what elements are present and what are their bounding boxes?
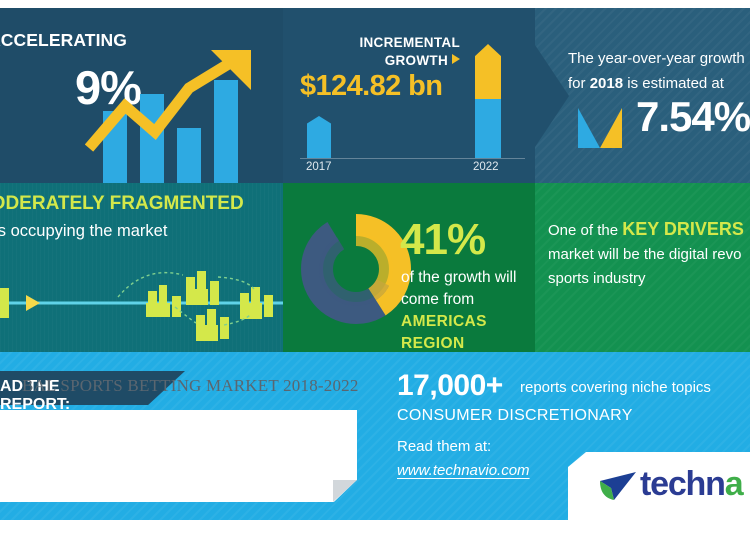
panel-divider-chevron-icon — [535, 45, 569, 147]
key-drivers-text: One of the KEY DRIVERS market will be th… — [548, 217, 750, 291]
americas-caption-line1: of the growth will — [401, 269, 516, 286]
link-curve-3 — [218, 277, 254, 289]
row-market-overview: et will be ACCELERATING R of nearly 9% I… — [0, 8, 750, 183]
americas-caption: of the growth will come from AMERICAS RE… — [401, 267, 546, 355]
arrow-head-icon — [26, 295, 40, 311]
fragmentation-headline: et is MODERATELY FRAGMENTED y players oc… — [0, 190, 290, 245]
incremental-growth-value: $124.82 bn — [300, 70, 475, 103]
up-triangle-icon — [578, 108, 622, 148]
wordmark-green: a — [725, 465, 743, 503]
incremental-bar-2017 — [307, 116, 331, 158]
cagr-headline-bold: ACCELERATING — [0, 30, 127, 50]
incremental-axis-line — [300, 158, 525, 159]
panel-cagr: et will be ACCELERATING R of nearly 9% — [0, 8, 283, 183]
city-cluster-2-icon — [186, 271, 219, 305]
report-count: 17,000+ — [397, 369, 503, 403]
city-cluster-4-icon — [240, 287, 273, 319]
report-count-label: reports covering niche topics — [520, 379, 711, 396]
cagr-bar-3 — [177, 128, 201, 183]
infographic-root: et will be ACCELERATING R of nearly 9% I… — [0, 0, 750, 536]
incremental-tick-2017: 2017 — [306, 161, 332, 173]
yoy-line2-pre: for — [568, 75, 590, 92]
report-card[interactable] — [0, 410, 357, 502]
key-drivers-line2: market will be the digital revo — [548, 246, 741, 263]
yoy-line2-post: is estimated at — [623, 75, 724, 92]
website-link[interactable]: www.technavio.com — [397, 462, 530, 479]
incremental-label-line2: GROWTH — [385, 53, 448, 68]
americas-region-line1: AMERICAS — [401, 313, 487, 330]
yoy-headline: The year-over-year growth for 2018 is es… — [568, 46, 750, 96]
fragmentation-diagram — [0, 263, 283, 352]
report-title: BAL SPORTS BETTING MARKET 2018-2022 — [22, 376, 359, 396]
city-cluster-1-icon — [146, 285, 181, 317]
row-fragmentation-drivers: et is MODERATELY FRAGMENTED y players oc… — [0, 183, 750, 352]
incremental-growth-label: INCREMENTAL GROWTH — [300, 34, 460, 70]
cagr-bar-4 — [214, 80, 238, 183]
incremental-tick-2022: 2022 — [473, 161, 499, 173]
key-drivers-line3: sports industry — [548, 270, 646, 287]
technavio-wordmark: techna — [640, 465, 742, 504]
report-category: CONSUMER DISCRETIONARY — [397, 407, 633, 425]
cagr-bar-2 — [140, 94, 164, 183]
yoy-line1: The year-over-year growth — [568, 50, 745, 67]
wordmark-blue: techn — [640, 465, 725, 503]
cagr-bar-chart — [85, 48, 285, 183]
play-triangle-icon — [452, 54, 460, 64]
panel-fragmentation: et is MODERATELY FRAGMENTED y players oc… — [0, 183, 283, 352]
row-report-cta: AD THE REPORT: BAL SPORTS BETTING MARKET… — [0, 352, 750, 520]
americas-region-line2: REGION — [401, 335, 465, 352]
read-them-at-label: Read them at: — [397, 438, 491, 455]
americas-donut-chart — [300, 213, 412, 325]
key-drivers-pre: One of the — [548, 222, 622, 239]
incremental-bar-2022-base — [475, 99, 501, 158]
fragmentation-highlight: MODERATELY FRAGMENTED — [0, 193, 244, 214]
americas-caption-line2: come from — [401, 291, 474, 308]
yoy-year: 2018 — [590, 75, 623, 92]
yoy-value: 7.54% — [636, 93, 750, 141]
technavio-logo-icon — [598, 469, 640, 510]
source-block-icon — [0, 288, 9, 318]
incremental-label-line1: INCREMENTAL — [359, 35, 460, 50]
americas-percentage: 41% — [400, 215, 485, 265]
fragmentation-line2: y players occupying the market — [0, 222, 167, 240]
card-fold-corner-icon — [333, 480, 357, 502]
key-drivers-highlight: KEY DRIVERS — [622, 219, 744, 239]
